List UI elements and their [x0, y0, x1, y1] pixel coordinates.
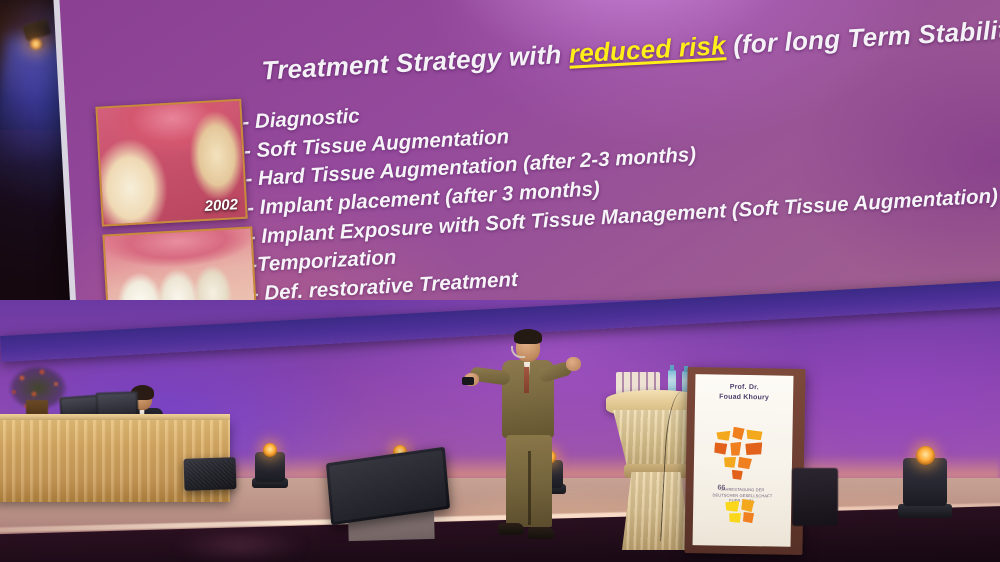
lectern-speaker-name: Prof. Dr. Fouad Khoury: [695, 382, 793, 404]
conference-stage-scene: Treatment Strategy with reduced risk (fo…: [0, 0, 1000, 562]
presenter-speaker: [486, 333, 572, 548]
mover-yoke: [903, 458, 947, 506]
logo-shard: [730, 442, 741, 456]
foreground-blur-object: [150, 522, 330, 562]
logo-shard: [724, 457, 736, 468]
equipment-case: [792, 468, 838, 526]
presentation-clicker[interactable]: [462, 377, 474, 385]
clinical-photo-2002: 2002: [95, 99, 247, 227]
mover-lens-icon: [263, 443, 277, 457]
monitor-bezel: [329, 450, 447, 522]
lectern-sign-panel: Prof. Dr. Fouad Khoury 66 JAHRESTAGUNG D…: [693, 374, 794, 547]
presenter-shoe: [528, 527, 554, 539]
slide-title-before: Treatment Strategy with: [261, 39, 570, 86]
logo-shard: [732, 470, 743, 480]
mover-base: [898, 504, 952, 518]
presenter-hair: [514, 329, 542, 344]
moving-head-light: [252, 440, 288, 488]
logo-shard: [714, 442, 727, 454]
presenter-leg-separation: [528, 451, 531, 525]
amber-spot-icon: [28, 38, 44, 50]
logo-shard: [738, 457, 752, 469]
photo-year-label: 2002: [204, 196, 238, 215]
slide-title-highlight: reduced risk: [568, 30, 726, 69]
presenter-right-hand: [566, 357, 581, 371]
speaker-grille: [187, 460, 234, 488]
headset-microphone-icon: [511, 346, 525, 358]
logo-shard: [746, 429, 762, 440]
logo-shard: [716, 430, 730, 440]
logo-shard: [729, 513, 741, 523]
logo-shard: [743, 512, 754, 523]
lectern-name-line-2: Fouad Khoury: [695, 392, 793, 404]
presenter-shoe: [498, 523, 524, 535]
lectern-podium: Prof. Dr. Fouad Khoury 66 JAHRESTAGUNG D…: [684, 367, 805, 555]
stage-wedge-speaker: [183, 457, 236, 491]
logo-shard: [725, 501, 739, 512]
logo-shard: [732, 427, 744, 440]
congress-logo: 66 JAHRESTAGUNG DER DEUTSCHEN GESELLSCHA…: [711, 426, 775, 523]
logo-shard: [741, 499, 754, 512]
presenter-tie: [524, 367, 529, 393]
mover-lens-icon: [916, 446, 935, 465]
logo-shard: [745, 442, 762, 455]
moving-head-light: [898, 440, 952, 518]
slide-title-after: (for long Term Stability): [725, 13, 1000, 60]
